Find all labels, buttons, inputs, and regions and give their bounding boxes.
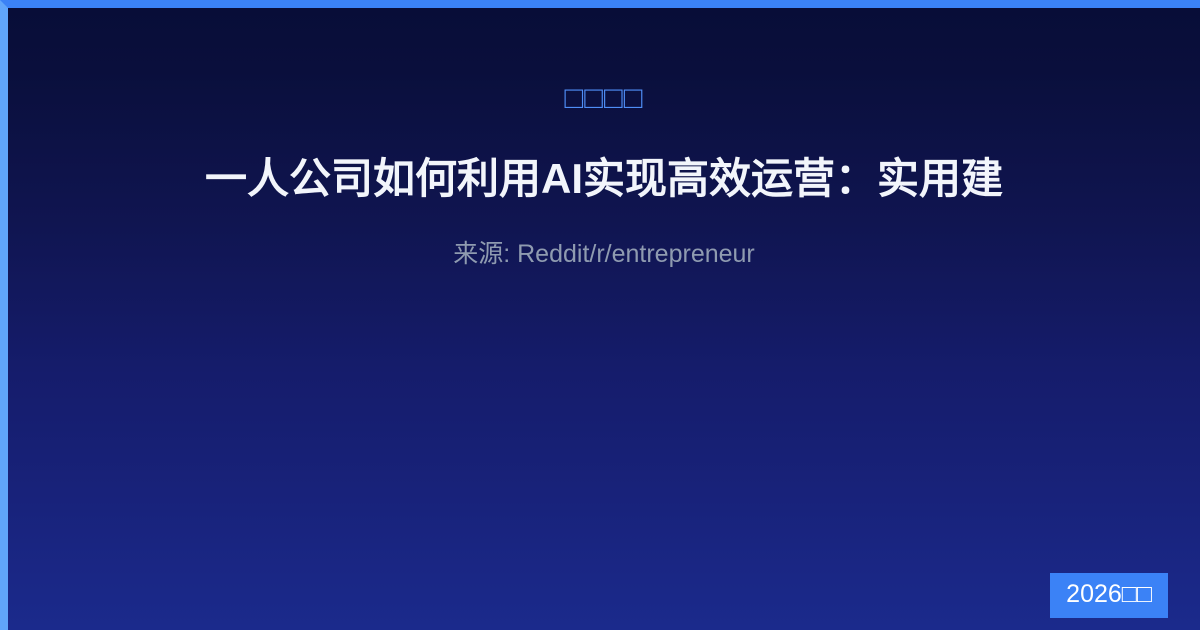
year-badge: 2026□□ [1050, 573, 1168, 618]
card-eyebrow-label: □□□□ [8, 82, 1200, 113]
social-share-card: □□□□ 一人公司如何利用AI实现高效运营：实用建 来源: Reddit/r/e… [0, 0, 1200, 630]
page-title: 一人公司如何利用AI实现高效运营：实用建 [8, 154, 1200, 204]
source-attribution: 来源: Reddit/r/entrepreneur [8, 239, 1200, 269]
